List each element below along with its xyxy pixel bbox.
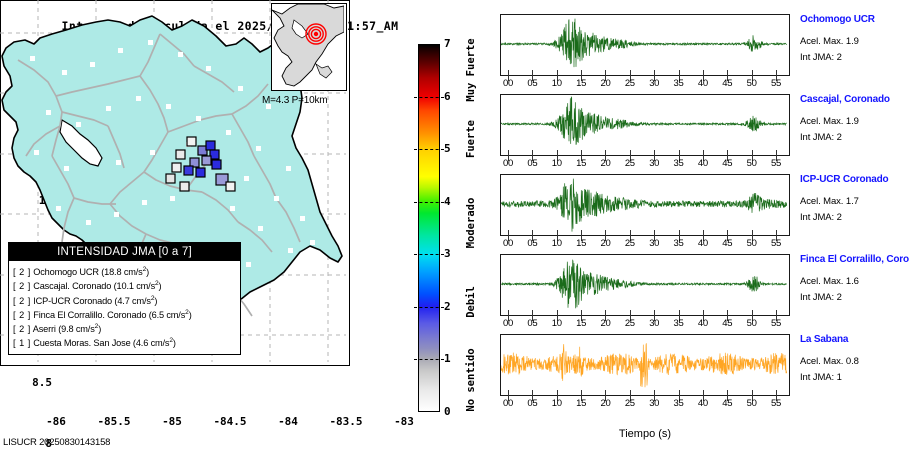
seismogram-x-tick-label: 50 [741,398,763,409]
station-name[interactable]: Ochomogo UCR [800,14,910,25]
seismogram-x-tick-label: 15 [570,238,592,249]
colorbar-value: 0 [444,405,451,418]
seismogram-panel[interactable]: 000510152025303540455055Ochomogo UCRAcel… [500,14,790,76]
seismogram-x-ticks: 000510152025303540455055 [500,156,790,172]
station-jma-intensity: Int JMA: 2 [800,292,910,303]
magnitude-depth-caption: M=4.3 P=10km [262,95,327,106]
waveform-trace [501,175,787,233]
seismogram-x-tick-label: 10 [546,78,568,89]
seismogram-x-tick-label: 30 [643,318,665,329]
colorbar-tick [414,307,444,308]
seismogram-x-tick-label: 35 [668,158,690,169]
seismogram-x-tick-label: 50 [741,158,763,169]
colorbar-category-label: No sentido [465,349,477,412]
colorbar-tick [414,97,444,98]
seismogram-x-ticks: 000510152025303540455055 [500,236,790,252]
seismogram-x-tick-label: 10 [546,398,568,409]
map-x-axis: -86-85.5-85-84.5-84-83.5-83 [0,415,460,433]
station-max-acceleration: Acel. Max. 1.6 [800,276,910,287]
seismogram-x-tick-label: 55 [765,158,787,169]
seismogram-x-tick-label: 10 [546,158,568,169]
seismogram-x-tick-label: 20 [594,398,616,409]
map-x-tick: -86 [34,415,78,428]
map-x-tick: -83 [382,415,426,428]
seismogram-x-tick-label: 55 [765,238,787,249]
legend-station-row: [ 2 ] Finca El Corralillo. Coronado (6.5… [13,307,236,321]
seismogram-x-tick-label: 35 [668,398,690,409]
station-metadata: La SabanaAcel. Max. 0.8Int JMA: 1 [800,334,910,383]
seismogram-x-tick-label: 25 [619,318,641,329]
station-jma-intensity: Int JMA: 2 [800,52,910,63]
colorbar-value: 2 [444,300,451,313]
legend-title: INTENSIDAD JMA [0 a 7] [9,243,240,261]
station-max-acceleration: Acel. Max. 1.7 [800,196,910,207]
waveform-trace [501,335,787,393]
seismogram-x-tick-label: 40 [692,238,714,249]
seismogram-x-tick-label: 25 [619,398,641,409]
seismogram-x-tick-label: 50 [741,238,763,249]
footer-timestamp: LISUCR 20250830143158 [3,437,110,448]
station-metadata: Ochomogo UCRAcel. Max. 1.9Int JMA: 2 [800,14,910,63]
seismogram-panel[interactable]: 000510152025303540455055Finca El Corrali… [500,254,790,316]
station-max-acceleration: Acel. Max. 1.9 [800,36,910,47]
colorbar-tick [414,359,444,360]
seismogram-x-tick-label: 45 [716,398,738,409]
legend-station-row: [ 2 ] Ochomogo UCR (18.8 cm/s2) [13,264,236,278]
seismogram-x-tick-label: 20 [594,158,616,169]
legend-station-row: [ 2 ] ICP-UCR Coronado (4.7 cm/s2) [13,293,236,307]
seismogram-x-tick-label: 25 [619,78,641,89]
seismogram-x-tick-label: 20 [594,238,616,249]
seismogram-x-tick-label: 00 [497,398,519,409]
map-x-tick: -83.5 [324,415,368,428]
seismogram-x-tick-label: 55 [765,398,787,409]
seismogram-x-tick-label: 35 [668,238,690,249]
colorbar-category-label: Moderado [465,197,477,248]
waveform-trace [501,95,787,153]
station-metadata: Finca El Corralillo, CoroAcel. Max. 1.6I… [800,254,910,303]
intensity-legend: INTENSIDAD JMA [0 a 7] [ 2 ] Ochomogo UC… [8,242,241,355]
waveform-plot[interactable] [500,174,790,236]
colorbar-value: 7 [444,37,451,50]
seismogram-x-ticks: 000510152025303540455055 [500,76,790,92]
seismogram-x-tick-label: 50 [741,318,763,329]
seismogram-x-tick-label: 20 [594,318,616,329]
legend-station-row: [ 1 ] Cuesta Moras. San Jose (4.6 cm/s2) [13,335,236,349]
colorbar-tick [414,149,444,150]
legend-station-row: [ 2 ] Aserri (9.8 cm/s2) [13,321,236,335]
station-jma-intensity: Int JMA: 2 [800,132,910,143]
waveform-plot[interactable] [500,94,790,156]
seismogram-x-tick-label: 35 [668,318,690,329]
colorbar-category-label: Fuerte [465,120,477,158]
seismogram-x-tick-label: 55 [765,318,787,329]
seismogram-x-tick-label: 30 [643,158,665,169]
station-name[interactable]: La Sabana [800,334,910,345]
seismogram-x-tick-label: 40 [692,318,714,329]
intensity-colorbar: 76543210Muy FuerteFuerteModeradoDebilNo … [418,44,440,412]
x-axis-title: Tiempo (s) [500,428,790,440]
station-max-acceleration: Acel. Max. 0.8 [800,356,910,367]
intensity-map[interactable]: M=4.3 P=10km INTENSIDAD JMA [0 a 7] [ 2 … [0,0,350,366]
colorbar-category-label: Muy Fuerte [465,39,477,102]
seismogram-x-ticks: 000510152025303540455055 [500,316,790,332]
legend-station-row: [ 2 ] Cascajal. Coronado (10.1 cm/s2) [13,278,236,292]
seismogram-x-ticks: 000510152025303540455055 [500,396,790,412]
seismogram-x-tick-label: 30 [643,238,665,249]
seismogram-x-tick-label: 05 [521,238,543,249]
colorbar-value: 1 [444,352,451,365]
seismogram-x-tick-label: 15 [570,158,592,169]
station-name[interactable]: Finca El Corralillo, Coro [800,254,910,265]
seismogram-x-tick-label: 30 [643,78,665,89]
colorbar-value: 3 [444,247,451,260]
seismogram-x-tick-label: 10 [546,238,568,249]
seismogram-panel[interactable]: 000510152025303540455055ICP-UCR Coronado… [500,174,790,236]
waveform-trace [501,255,787,313]
waveform-trace [501,15,787,73]
seismogram-x-tick-label: 45 [716,158,738,169]
waveform-plot[interactable] [500,254,790,316]
waveform-plot[interactable] [500,14,790,76]
colorbar-tick [414,254,444,255]
map-x-tick: -84 [266,415,310,428]
seismogram-panel[interactable]: 000510152025303540455055La SabanaAcel. M… [500,334,790,396]
station-metadata: ICP-UCR CoronadoAcel. Max. 1.7Int JMA: 2 [800,174,910,223]
seismogram-x-tick-label: 35 [668,78,690,89]
waveform-plot[interactable] [500,334,790,396]
map-x-tick: -85 [150,415,194,428]
inset-locator-map [271,3,347,91]
seismogram-x-tick-label: 15 [570,318,592,329]
colorbar-tick [414,202,444,203]
seismogram-x-tick-label: 45 [716,78,738,89]
station-name[interactable]: Cascajal, Coronado [800,94,910,105]
seismogram-x-tick-label: 40 [692,398,714,409]
seismogram-x-tick-label: 50 [741,78,763,89]
seismogram-panel[interactable]: 000510152025303540455055Cascajal, Corona… [500,94,790,156]
seismogram-x-tick-label: 05 [521,78,543,89]
map-x-tick: -85.5 [92,415,136,428]
colorbar-gradient [418,44,440,412]
seismogram-x-tick-label: 15 [570,78,592,89]
colorbar-value: 6 [444,90,451,103]
seismogram-x-tick-label: 10 [546,318,568,329]
seismogram-x-tick-label: 05 [521,318,543,329]
seismogram-x-tick-label: 00 [497,158,519,169]
seismogram-x-tick-label: 30 [643,398,665,409]
seismogram-x-tick-label: 15 [570,398,592,409]
seismogram-x-tick-label: 55 [765,78,787,89]
epicenter-icon [306,24,326,44]
station-jma-intensity: Int JMA: 2 [800,212,910,223]
seismogram-x-tick-label: 40 [692,78,714,89]
seismogram-x-tick-label: 25 [619,238,641,249]
station-name[interactable]: ICP-UCR Coronado [800,174,910,185]
seismogram-x-tick-label: 00 [497,238,519,249]
seismogram-x-tick-label: 45 [716,318,738,329]
station-max-acceleration: Acel. Max. 1.9 [800,116,910,127]
map-x-tick: -84.5 [208,415,252,428]
colorbar-category-label: Debil [465,286,477,318]
colorbar-value: 4 [444,195,451,208]
seismogram-x-tick-label: 45 [716,238,738,249]
seismogram-x-tick-label: 05 [521,398,543,409]
seismogram-x-tick-label: 25 [619,158,641,169]
seismogram-x-tick-label: 40 [692,158,714,169]
map-y-tick: 8.5 [4,376,52,389]
seismogram-x-tick-label: 20 [594,78,616,89]
seismogram-x-tick-label: 00 [497,78,519,89]
seismogram-x-tick-label: 00 [497,318,519,329]
legend-rows: [ 2 ] Ochomogo UCR (18.8 cm/s2)[ 2 ] Cas… [9,261,240,354]
station-metadata: Cascajal, CoronadoAcel. Max. 1.9Int JMA:… [800,94,910,143]
station-jma-intensity: Int JMA: 1 [800,372,910,383]
seismogram-panels: Tiempo (s) 000510152025303540455055Ochom… [500,14,910,434]
seismogram-x-tick-label: 05 [521,158,543,169]
colorbar-value: 5 [444,142,451,155]
